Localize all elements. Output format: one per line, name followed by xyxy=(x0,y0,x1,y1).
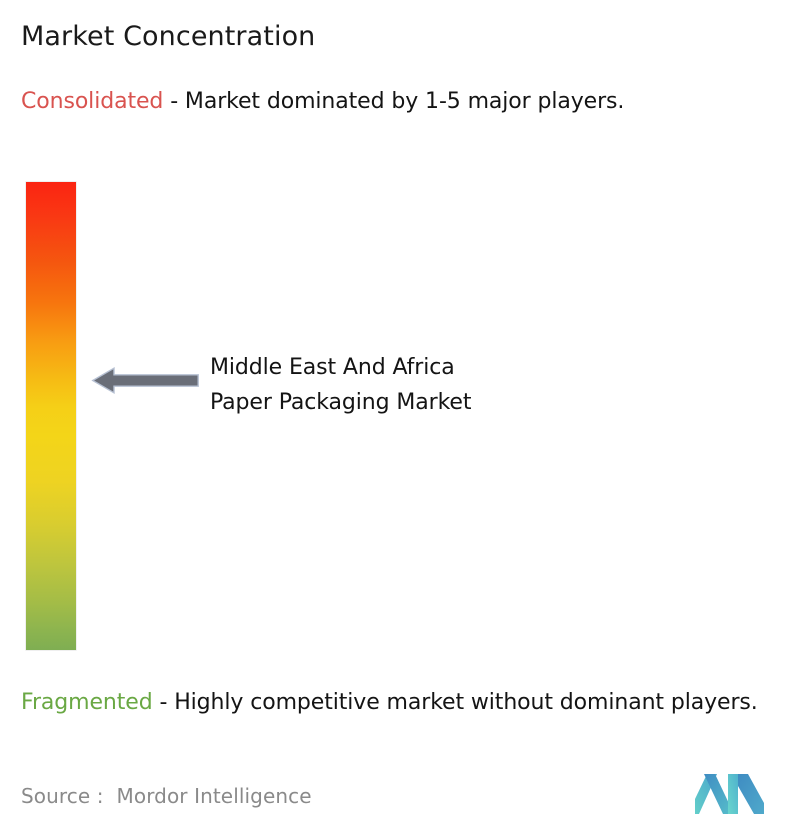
legend-fragmented-spacer xyxy=(153,690,160,715)
page-title: Market Concentration xyxy=(21,20,315,54)
callout-label-line1: Middle East And Africa xyxy=(210,350,471,385)
arrow-left-icon xyxy=(92,367,199,394)
legend-consolidated-key: Consolidated xyxy=(21,89,163,114)
legend-consolidated-description: - Market dominated by 1-5 major players. xyxy=(170,89,624,114)
callout-label-line2: Paper Packaging Market xyxy=(210,385,471,420)
concentration-gradient-scale xyxy=(26,182,76,650)
legend-fragmented-key: Fragmented xyxy=(21,690,153,715)
legend-consolidated: Consolidated - Market dominated by 1-5 m… xyxy=(21,86,769,117)
source-label: Source : xyxy=(21,784,104,808)
logo-n-diagonal-stroke xyxy=(738,774,764,814)
legend-fragmented: Fragmented - Highly competitive market w… xyxy=(21,687,789,718)
logo-n-left-stroke xyxy=(728,774,738,814)
mordor-intelligence-logo xyxy=(694,770,766,818)
callout-label: Middle East And AfricaPaper Packaging Ma… xyxy=(210,350,471,420)
arrow-left-shape xyxy=(93,368,198,393)
source-value: Mordor Intelligence xyxy=(117,784,312,808)
legend-fragmented-description: - Highly competitive market without domi… xyxy=(160,690,758,715)
source-note: Source : Mordor Intelligence xyxy=(21,783,312,809)
source-separator xyxy=(104,784,117,808)
